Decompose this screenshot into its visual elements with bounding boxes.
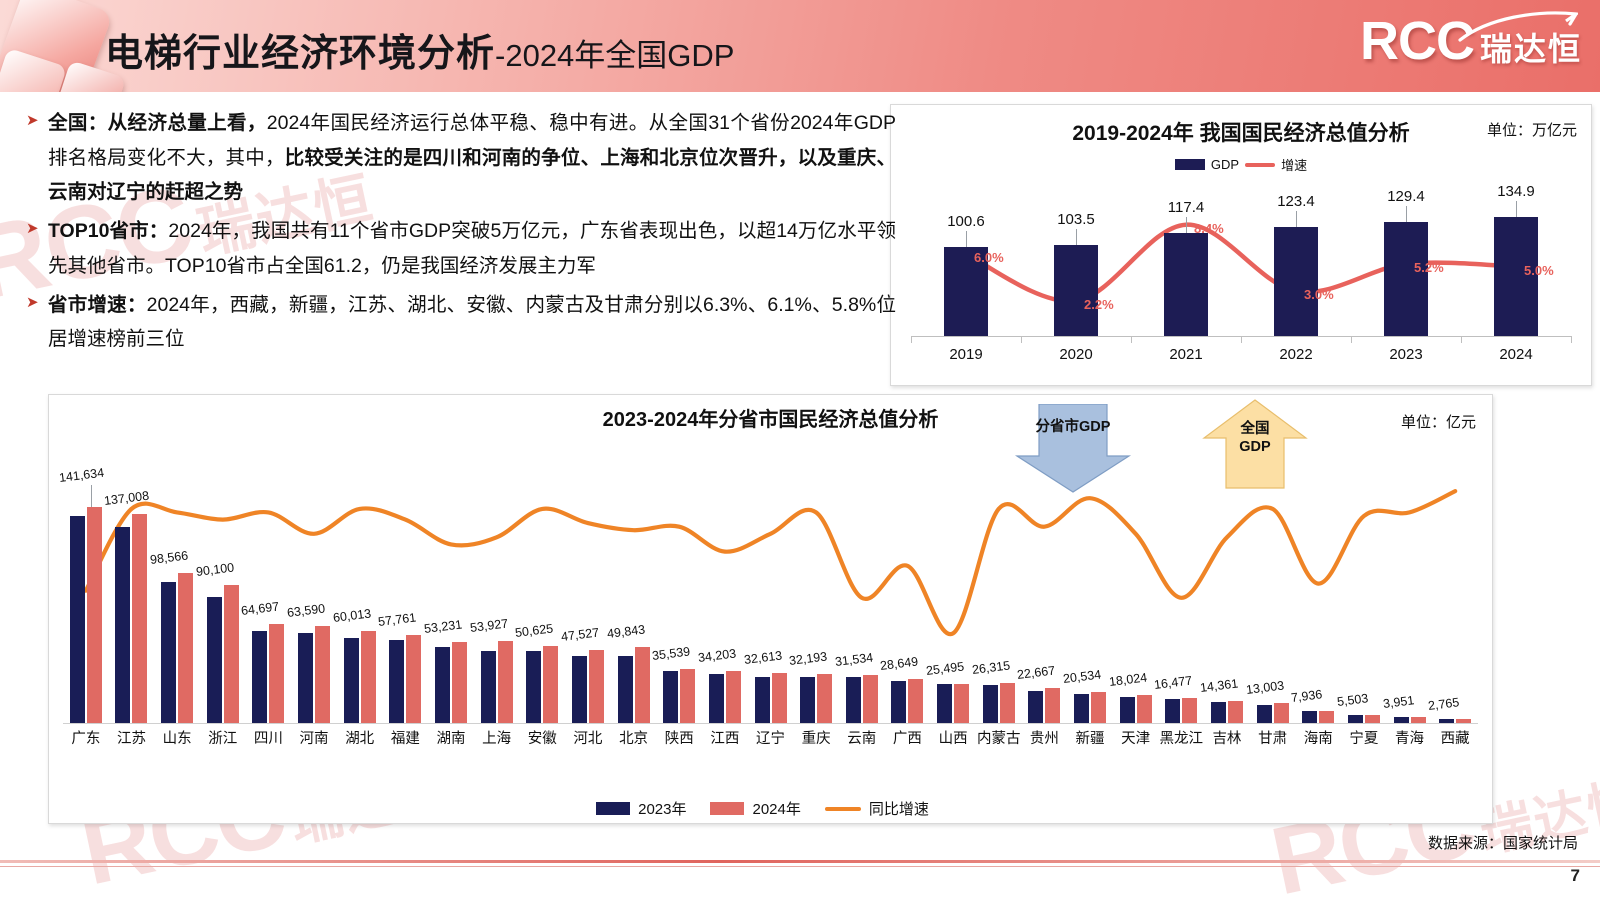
bar-group — [1394, 717, 1426, 723]
bar-group — [207, 585, 239, 723]
bullet-list: ➤ 全国：从经济总量上看，2024年国民经济运行总体平稳、稳中有进。从全国31个… — [26, 106, 896, 361]
bar-group — [891, 679, 923, 723]
bar-group — [1348, 715, 1380, 723]
x-axis-tick — [1131, 336, 1132, 343]
bar-2024 — [1228, 701, 1243, 723]
bar-2023 — [1074, 694, 1089, 723]
logo-swoosh-icon — [1458, 10, 1578, 44]
legend-label-gdp: GDP — [1211, 157, 1239, 172]
growth-rate-label: 5.0% — [1524, 263, 1554, 278]
growth-line-series — [911, 183, 1571, 355]
x-axis-tick-label: 2022 — [1256, 346, 1336, 363]
bullet-text: 省市增速：2024年，西藏，新疆，江苏、湖北、安徽、内蒙古及甘肃分别以6.3%、… — [48, 288, 896, 357]
chart-unit-label: 单位：万亿元 — [1487, 119, 1577, 140]
x-axis-tick-label: 辽宁 — [745, 727, 797, 748]
bar-2024 — [224, 585, 239, 723]
bar-2024 — [452, 642, 467, 723]
list-item: ➤ TOP10省市：2024年，我国共有11个省市GDP突破5万亿元，广东省表现… — [26, 214, 896, 283]
bar-2023 — [115, 527, 130, 723]
footer-divider — [0, 860, 1600, 863]
bar-2024 — [132, 514, 147, 723]
callout-national-gdp: 全国 GDP — [1200, 398, 1310, 490]
bar-2023 — [891, 681, 906, 723]
bar-2024 — [1000, 683, 1015, 723]
bar-2023 — [1257, 705, 1272, 723]
x-axis-tick — [1351, 336, 1352, 343]
value-leader-line — [91, 485, 92, 507]
bar-group — [755, 673, 787, 723]
bar-2023 — [618, 656, 633, 723]
bar-2023 — [937, 684, 952, 723]
bar-2023 — [709, 674, 724, 723]
x-axis-tick-label: 2023 — [1366, 346, 1446, 363]
bar-gdp — [1384, 222, 1428, 336]
bar-2024 — [1137, 695, 1152, 723]
bar-2024 — [498, 641, 513, 723]
bar-2023 — [1348, 715, 1363, 723]
bar-2023 — [207, 597, 222, 723]
bar-2024 — [1456, 719, 1471, 723]
value-leader-line — [1186, 217, 1187, 233]
bar-group — [800, 674, 832, 723]
page-title-main: 电梯行业经济环境分析 — [105, 33, 495, 75]
bar-2023 — [755, 677, 770, 723]
bar-2023 — [344, 638, 359, 723]
bullet-text: TOP10省市：2024年，我国共有11个省市GDP突破5万亿元，广东省表现出色… — [48, 214, 896, 283]
x-axis-tick-label: 江西 — [699, 727, 751, 748]
x-axis-tick-label: 四川 — [242, 727, 294, 748]
bar-value-label: 100.6 — [926, 213, 1006, 230]
x-axis-tick-label: 陕西 — [653, 727, 705, 748]
growth-rate-label: 3.0% — [1304, 287, 1334, 302]
bar-2023 — [1394, 717, 1409, 723]
bar-2024 — [543, 646, 558, 723]
bar-group — [1074, 692, 1106, 723]
page-title-sub: -2024年全国GDP — [495, 38, 734, 73]
legend-label-growth: 增速 — [1281, 155, 1307, 174]
x-axis-tick-label: 贵州 — [1018, 727, 1070, 748]
bar-2023 — [1439, 719, 1454, 723]
x-axis-tick-label: 广西 — [881, 727, 933, 748]
x-axis-tick-label: 甘肃 — [1247, 727, 1299, 748]
bar-2024 — [1411, 717, 1426, 723]
bar-group — [389, 635, 421, 723]
x-axis-tick-label: 新疆 — [1064, 727, 1116, 748]
x-axis-tick-label: 2020 — [1036, 346, 1116, 363]
bar-group — [526, 646, 558, 723]
bar-2024 — [1091, 692, 1106, 723]
x-axis-tick-label: 2021 — [1146, 346, 1226, 363]
national-gdp-chart-panel: 2019-2024年 我国国民经济总值分析 单位：万亿元 GDP 增速 100.… — [890, 104, 1592, 386]
bar-2023 — [663, 671, 678, 723]
x-axis-tick-label: 山东 — [151, 727, 203, 748]
bar-2023 — [70, 516, 85, 723]
x-axis-tick-label: 江苏 — [105, 727, 157, 748]
bar-group — [435, 642, 467, 723]
bar-2024 — [269, 624, 284, 723]
bar-group — [1439, 719, 1471, 723]
callout-label: 全国 GDP — [1200, 420, 1310, 456]
bar-group — [1028, 688, 1060, 723]
growth-rate-label: 6.0% — [974, 250, 1004, 265]
bar-2024 — [178, 573, 193, 723]
bullet-text: 全国：从经济总量上看，2024年国民经济运行总体平稳、稳中有进。从全国31个省份… — [48, 106, 896, 210]
bar-2024 — [87, 507, 102, 723]
bar-2023 — [389, 640, 404, 723]
bar-value-label: 129.4 — [1366, 188, 1446, 205]
x-axis-tick-label: 湖南 — [425, 727, 477, 748]
bar-2024 — [1365, 715, 1380, 723]
bullet-arrow-icon: ➤ — [26, 295, 48, 310]
bar-group — [115, 514, 147, 723]
data-source-note: 数据来源：国家统计局 — [1428, 832, 1578, 853]
bar-2023 — [435, 647, 450, 723]
bar-2024 — [680, 669, 695, 723]
bar-group — [298, 626, 330, 723]
bar-2024 — [726, 671, 741, 723]
value-leader-line — [1516, 201, 1517, 217]
x-axis-tick — [911, 336, 912, 343]
legend-label-2024: 2024年 — [752, 798, 800, 819]
value-leader-line — [966, 231, 967, 247]
bar-gdp — [1274, 227, 1318, 336]
x-axis-tick-label: 山西 — [927, 727, 979, 748]
x-axis-tick-label: 浙江 — [197, 727, 249, 748]
callout-label: 分省市GDP — [1013, 418, 1133, 436]
x-axis-tick-label: 黑龙江 — [1155, 727, 1207, 748]
bar-value-label: 117.4 — [1146, 199, 1226, 216]
bar-2024 — [589, 650, 604, 723]
footer-divider-thin — [0, 866, 1600, 867]
growth-rate-label: 8.4% — [1194, 221, 1224, 236]
x-axis-tick-label: 2019 — [926, 346, 1006, 363]
x-axis-tick-label: 河北 — [562, 727, 614, 748]
bar-group — [1165, 698, 1197, 723]
x-axis-tick-label: 广东 — [60, 727, 112, 748]
bullet-arrow-icon: ➤ — [26, 113, 48, 128]
bar-2023 — [526, 651, 541, 723]
x-axis-tick-label: 吉林 — [1201, 727, 1253, 748]
bar-2023 — [1120, 697, 1135, 723]
legend-line-growth — [825, 807, 861, 811]
bar-2024 — [954, 684, 969, 723]
bar-2023 — [161, 582, 176, 723]
bar-group — [1302, 711, 1334, 723]
chart-legend: GDP 增速 — [891, 155, 1591, 174]
bar-2023 — [1211, 702, 1226, 723]
bar-2024 — [1319, 711, 1334, 723]
bar-2023 — [572, 656, 587, 723]
bar-group — [572, 650, 604, 723]
legend-swatch-2023 — [596, 802, 630, 815]
bar-2023 — [481, 651, 496, 723]
list-item: ➤ 全国：从经济总量上看，2024年国民经济运行总体平稳、稳中有进。从全国31个… — [26, 106, 896, 210]
brand-logo: RCC 瑞达恒 — [1360, 14, 1582, 68]
bar-group — [663, 669, 695, 723]
bar-2024 — [1274, 703, 1289, 723]
bar-group — [846, 675, 878, 723]
bar-2024 — [908, 679, 923, 723]
bar-group — [1257, 703, 1289, 723]
bar-gdp — [1054, 245, 1098, 336]
bar-2023 — [1302, 711, 1317, 723]
legend-label-2023: 2023年 — [638, 798, 686, 819]
legend-swatch-gdp — [1175, 159, 1205, 170]
bar-group — [1120, 695, 1152, 723]
x-axis-tick-label: 湖北 — [334, 727, 386, 748]
national-gdp-plot: 100.620196.0%103.520202.2%117.420218.4%1… — [911, 183, 1571, 355]
value-leader-line — [1296, 211, 1297, 227]
bar-value-label: 123.4 — [1256, 193, 1336, 210]
x-axis-tick-label: 宁夏 — [1338, 727, 1390, 748]
bar-value-label: 103.5 — [1036, 211, 1116, 228]
x-axis-tick-label: 上海 — [471, 727, 523, 748]
bar-group — [937, 684, 969, 723]
page-number: 7 — [1571, 866, 1580, 886]
bar-group — [161, 573, 193, 723]
chart-unit-label: 单位：亿元 — [1401, 411, 1476, 432]
x-axis-tick-label: 2024 — [1476, 346, 1556, 363]
x-axis-tick — [1461, 336, 1462, 343]
x-axis-tick — [1021, 336, 1022, 343]
legend-swatch-2024 — [710, 802, 744, 815]
bar-2023 — [846, 677, 861, 723]
x-axis-tick — [1571, 336, 1572, 343]
bar-2023 — [252, 631, 267, 723]
bar-group — [481, 641, 513, 723]
x-axis-tick-label: 安徽 — [516, 727, 568, 748]
x-axis-tick-label: 西藏 — [1429, 727, 1481, 748]
bar-2024 — [772, 673, 787, 723]
bar-group — [1211, 701, 1243, 723]
logo-text: RCC — [1360, 14, 1474, 68]
x-axis-tick-label: 天津 — [1110, 727, 1162, 748]
bar-group — [709, 671, 741, 723]
bar-2024 — [315, 626, 330, 723]
x-axis-tick-label: 青海 — [1384, 727, 1436, 748]
x-axis-tick-label: 福建 — [379, 727, 431, 748]
growth-rate-label: 5.2% — [1414, 260, 1444, 275]
bar-group — [252, 624, 284, 723]
list-item: ➤ 省市增速：2024年，西藏，新疆，江苏、湖北、安徽、内蒙古及甘肃分别以6.3… — [26, 288, 896, 357]
bar-2023 — [298, 633, 313, 723]
bar-2024 — [635, 647, 650, 723]
bar-group — [344, 631, 376, 723]
bar-group — [983, 683, 1015, 723]
value-leader-line — [1076, 229, 1077, 245]
bar-2023 — [1028, 691, 1043, 723]
bullet-arrow-icon: ➤ — [26, 221, 48, 236]
bar-group — [618, 647, 650, 723]
bar-2024 — [1182, 698, 1197, 723]
bar-2024 — [361, 631, 376, 723]
x-axis-tick-label: 海南 — [1292, 727, 1344, 748]
x-axis-tick-label: 云南 — [836, 727, 888, 748]
bar-value-label: 134.9 — [1476, 183, 1556, 200]
legend-label-growth: 同比增速 — [869, 798, 929, 819]
x-axis-tick — [1241, 336, 1242, 343]
x-axis-tick-label: 内蒙古 — [973, 727, 1025, 748]
x-axis-tick-label: 河南 — [288, 727, 340, 748]
bar-2024 — [863, 675, 878, 723]
page-title: 电梯行业经济环境分析-2024年全国GDP — [105, 22, 734, 77]
bar-2024 — [817, 674, 832, 723]
legend-line-growth — [1245, 163, 1275, 167]
value-leader-line — [1406, 206, 1407, 222]
bar-2023 — [983, 685, 998, 723]
bar-2023 — [1165, 699, 1180, 723]
bar-2024 — [406, 635, 421, 723]
x-axis-tick-label: 北京 — [608, 727, 660, 748]
bar-2024 — [1045, 688, 1060, 723]
chart-legend: 2023年 2024年 同比增速 — [49, 798, 1492, 819]
x-axis-tick-label: 重庆 — [790, 727, 842, 748]
callout-province-gdp: 分省市GDP — [1013, 404, 1133, 494]
growth-rate-label: 2.2% — [1084, 297, 1114, 312]
bar-gdp — [1164, 233, 1208, 336]
bar-2023 — [800, 677, 815, 723]
bar-group — [70, 507, 102, 723]
